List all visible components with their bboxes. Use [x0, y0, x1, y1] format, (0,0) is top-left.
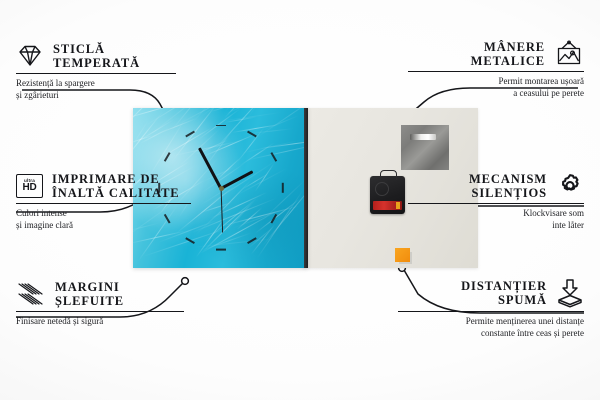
- feature-description: Permite menținerea unei distanțe constan…: [374, 316, 584, 339]
- feature-title: STICLĂ TEMPERATĂ: [53, 42, 140, 70]
- feature-title-line1: MECANISM: [469, 172, 547, 186]
- feature-desc-line1: Finisare netedă și sigură: [16, 316, 226, 328]
- feature-title: DISTANȚIER SPUMĂ: [461, 279, 547, 307]
- feature-header: MÂNERE METALICE: [374, 40, 584, 68]
- feature-title-line1: IMPRIMARE DE: [52, 172, 180, 186]
- feature-description: Rezistență la spargere și zgârieturi: [16, 78, 226, 101]
- feature-header: DISTANȚIER SPUMĂ: [374, 278, 584, 308]
- feature-rule: [408, 71, 584, 72]
- clock-tick: [216, 125, 226, 127]
- feature-desc-line1: Rezistență la spargere: [16, 78, 226, 90]
- infographic-canvas: STICLĂ TEMPERATĂ Rezistență la spargere …: [0, 0, 600, 400]
- feature-title-line2: METALICE: [471, 54, 545, 68]
- hd-label: HD: [22, 183, 36, 193]
- metal-hanger-plate: [401, 125, 449, 170]
- clock-tick: [216, 249, 226, 251]
- feature-high-quality-print: ultra HD IMPRIMARE DE ÎNALTĂ CALITATE Cu…: [16, 172, 226, 232]
- feature-description: Permit montarea ușoară a ceasului pe per…: [374, 76, 584, 99]
- feature-header: MARGINI ȘLEFUITE: [16, 280, 226, 308]
- feature-title-line1: MÂNERE: [471, 40, 545, 54]
- feature-rule: [408, 203, 584, 204]
- feature-description: Klockvisare som inte låter: [374, 208, 584, 231]
- clock-glass-edge: [304, 108, 308, 268]
- foam-spacer-pad: [395, 248, 410, 262]
- feature-desc-line2: a ceasului pe perete: [374, 88, 584, 100]
- feature-desc-line2: constante între ceas și perete: [374, 328, 584, 340]
- feature-desc-line1: Klockvisare som: [374, 208, 584, 220]
- feature-description: Finisare netedă și sigură: [16, 316, 226, 328]
- gear-icon: [556, 172, 584, 200]
- feature-foam-spacer: DISTANȚIER SPUMĂ Permite menținerea unei…: [374, 278, 584, 340]
- hatched-edges-icon: [16, 281, 46, 307]
- feature-title-line2: ȘLEFUITE: [55, 294, 124, 308]
- feature-title-line2: TEMPERATĂ: [53, 56, 140, 70]
- diamond-icon: [16, 43, 44, 69]
- feature-rule: [16, 203, 191, 204]
- feature-title: MÂNERE METALICE: [471, 40, 545, 68]
- feature-desc-line1: Culori intense: [16, 208, 226, 220]
- feature-desc-line1: Permite menținerea unei distanțe: [374, 316, 584, 328]
- feature-silent-mechanism: MECANISM SILENȚIOS Klockvisare som inte …: [374, 172, 584, 232]
- feature-header: ultra HD IMPRIMARE DE ÎNALTĂ CALITATE: [16, 172, 226, 200]
- feature-title: IMPRIMARE DE ÎNALTĂ CALITATE: [52, 172, 180, 200]
- feature-title-line1: DISTANȚIER: [461, 279, 547, 293]
- feature-polished-edges: MARGINI ȘLEFUITE Finisare netedă și sigu…: [16, 280, 226, 328]
- hanger-slot: [410, 134, 436, 140]
- feature-title-line2: SILENȚIOS: [469, 186, 547, 200]
- feature-rule: [16, 311, 184, 312]
- feature-header: MECANISM SILENȚIOS: [374, 172, 584, 200]
- framed-picture-icon: [554, 40, 584, 68]
- arrow-onto-pad-icon: [556, 278, 584, 308]
- feature-title: MARGINI ȘLEFUITE: [55, 280, 124, 308]
- feature-title-line2: SPUMĂ: [461, 293, 547, 307]
- clock-tick: [282, 182, 284, 192]
- feature-rule: [398, 311, 584, 312]
- feature-rule: [16, 73, 176, 74]
- feature-metal-handles: MÂNERE METALICE Permit montarea ușoară a…: [374, 40, 584, 100]
- feature-desc-line1: Permit montarea ușoară: [374, 76, 584, 88]
- feature-title-line1: MARGINI: [55, 280, 124, 294]
- feature-header: STICLĂ TEMPERATĂ: [16, 42, 226, 70]
- feature-title: MECANISM SILENȚIOS: [469, 172, 547, 200]
- feature-desc-line2: și imagine clară: [16, 220, 226, 232]
- feature-title-line1: STICLĂ: [53, 42, 140, 56]
- feature-tempered-glass: STICLĂ TEMPERATĂ Rezistență la spargere …: [16, 42, 226, 102]
- feature-desc-line2: inte låter: [374, 220, 584, 232]
- feature-title-line2: ÎNALTĂ CALITATE: [52, 186, 180, 200]
- feature-description: Culori intense și imagine clară: [16, 208, 226, 231]
- feature-desc-line2: și zgârieturi: [16, 90, 226, 102]
- ultra-hd-icon: ultra HD: [16, 174, 43, 198]
